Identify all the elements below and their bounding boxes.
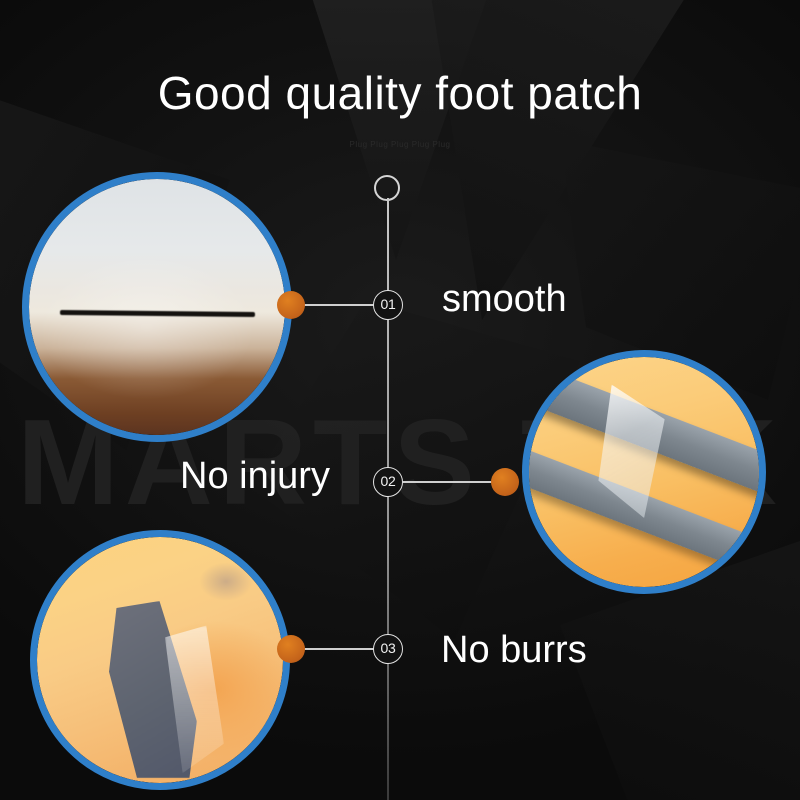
photo-image — [29, 179, 285, 435]
timeline-spine — [387, 198, 389, 800]
timeline-marker-03[interactable]: 03 — [373, 634, 403, 664]
photo-highlight — [29, 179, 285, 435]
feature-label-03: No burrs — [441, 629, 587, 672]
feature-label-01: smooth — [442, 278, 567, 321]
feature-label-02: No injury — [180, 455, 330, 498]
photo-protective-film-closeup — [522, 350, 766, 594]
photo-image — [37, 537, 283, 783]
photo-no-burrs-closeup — [30, 530, 290, 790]
connector-dot-3 — [277, 635, 305, 663]
photo-image — [529, 357, 759, 587]
photo-smooth-edge-closeup — [22, 172, 292, 442]
photo-smudge — [199, 562, 253, 601]
connector-dot-2 — [491, 468, 519, 496]
page-title: Good quality foot patch — [0, 66, 800, 120]
timeline-marker-01[interactable]: 01 — [373, 290, 403, 320]
timeline-marker-02[interactable]: 02 — [373, 467, 403, 497]
background-watermark-small: Plug Plug Plug Plug Plug — [0, 140, 800, 149]
product-infographic: MARTS TEK Plug Plug Plug Plug Plug Good … — [0, 0, 800, 800]
connector-dot-1 — [277, 291, 305, 319]
